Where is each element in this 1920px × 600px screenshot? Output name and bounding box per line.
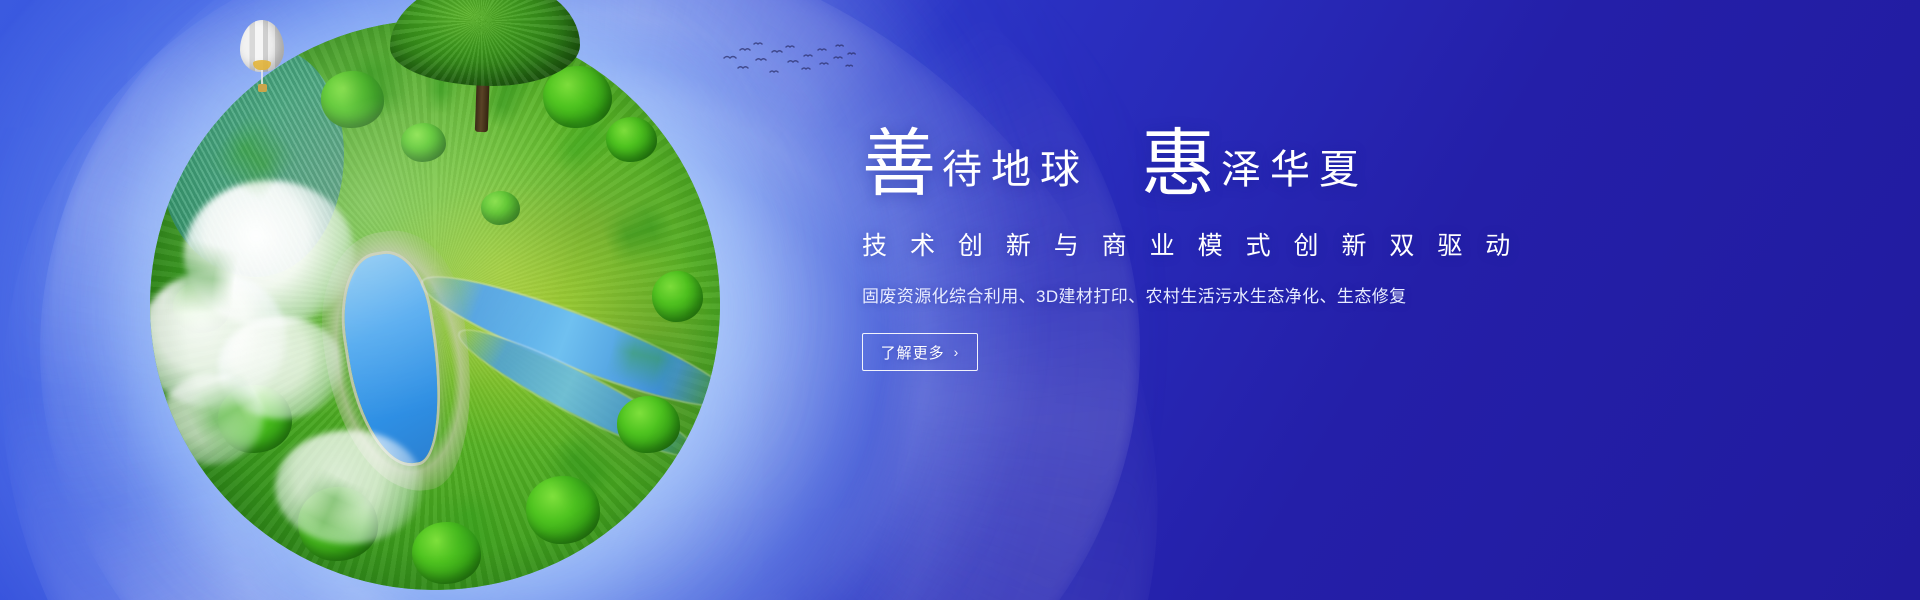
hero-tree xyxy=(390,0,580,118)
hot-air-balloon-icon xyxy=(240,20,284,98)
chevron-right-icon: › xyxy=(954,344,960,360)
headline-rest-2: 泽华夏 xyxy=(1221,150,1368,190)
headline-lead-1: 善 xyxy=(862,128,942,202)
hero-tree-crown xyxy=(390,0,580,86)
hero-headline: 善 待地球 惠 泽华夏 xyxy=(862,128,1862,202)
hero-banner: 善 待地球 惠 泽华夏 技 术 创 新 与 商 业 模 式 创 新 双 驱 动 … xyxy=(0,0,1920,600)
headline-lead-2: 惠 xyxy=(1141,128,1221,202)
bird-flock-icon xyxy=(720,38,860,84)
hero-copy: 善 待地球 惠 泽华夏 技 术 创 新 与 商 业 模 式 创 新 双 驱 动 … xyxy=(862,128,1862,371)
balloon-basket xyxy=(258,84,267,92)
learn-more-button[interactable]: 了解更多 › xyxy=(862,333,978,371)
hero-description: 固废资源化综合利用、3D建材打印、农村生活污水生态净化、生态修复 xyxy=(862,282,1862,307)
headline-rest-1: 待地球 xyxy=(942,150,1089,190)
hero-subtitle: 技 术 创 新 与 商 业 模 式 创 新 双 驱 动 xyxy=(862,226,1862,262)
learn-more-label: 了解更多 xyxy=(881,342,945,363)
tiny-planet-illustration xyxy=(140,0,800,600)
